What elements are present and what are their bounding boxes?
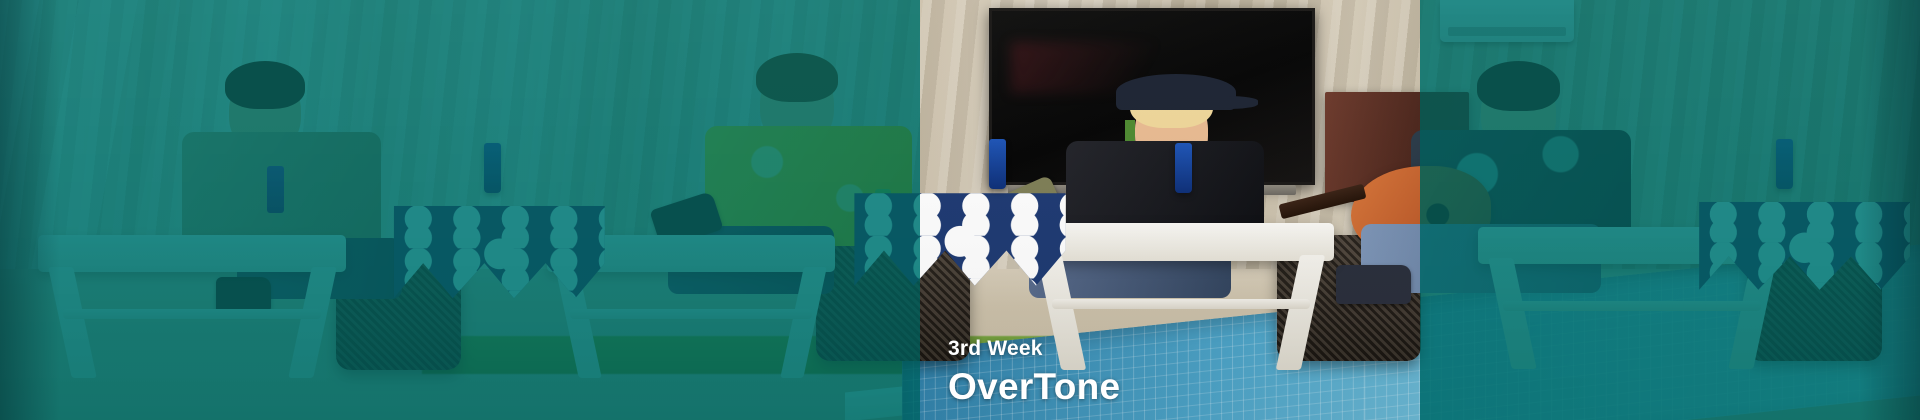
blue-bottle xyxy=(989,139,1006,189)
carousel-banner[interactable]: 3rd Week OverTone xyxy=(0,0,1920,420)
shoe xyxy=(1336,265,1411,304)
caption-title: OverTone xyxy=(948,367,1120,408)
person-with-guitar xyxy=(1411,71,1420,348)
cap xyxy=(1116,74,1236,110)
blue-bottle xyxy=(1175,143,1192,193)
slide-caption: 3rd Week OverTone xyxy=(948,337,1120,408)
caption-week-label: 3rd Week xyxy=(948,337,1120,361)
active-slide[interactable]: 3rd Week OverTone xyxy=(920,0,1420,420)
